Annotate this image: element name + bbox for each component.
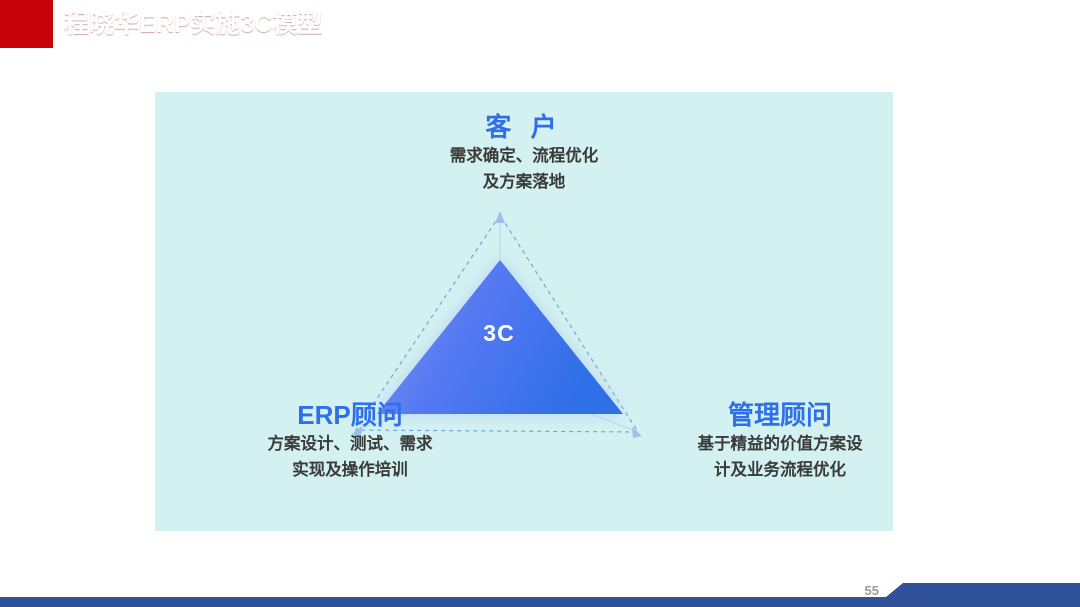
- node-management-consultant: 管理顾问 基于精益的价值方案设 计及业务流程优化: [625, 399, 935, 483]
- node-erp-consultant-desc-line-2: 实现及操作培训: [190, 457, 510, 483]
- node-management-consultant-desc-line-2: 计及业务流程优化: [625, 457, 935, 483]
- content-panel: 3C 客 户 需求确定、流程优化 及方案落地 ERP顾问 方案设计、测试、需求 …: [155, 92, 893, 531]
- node-erp-consultant: ERP顾问 方案设计、测试、需求 实现及操作培训: [190, 399, 510, 483]
- node-customer-desc-line-2: 及方案落地: [364, 169, 684, 195]
- header-accent-block: [0, 0, 53, 48]
- node-customer: 客 户 需求确定、流程优化 及方案落地: [364, 111, 684, 195]
- node-management-consultant-title: 管理顾问: [625, 399, 935, 431]
- node-erp-consultant-desc-line-1: 方案设计、测试、需求: [190, 431, 510, 457]
- diagram-stage: 3C 客 户 需求确定、流程优化 及方案落地 ERP顾问 方案设计、测试、需求 …: [155, 92, 893, 531]
- page-title: 程晓华ERP实施3C模型: [64, 5, 322, 43]
- page-number: 55: [855, 583, 879, 598]
- node-customer-desc-line-1: 需求确定、流程优化: [364, 143, 684, 169]
- node-management-consultant-desc-line-1: 基于精益的价值方案设: [625, 431, 935, 457]
- node-erp-consultant-title: ERP顾问: [190, 399, 510, 431]
- node-customer-title: 客 户: [364, 111, 684, 143]
- slide-header: 程晓华ERP实施3C模型: [0, 0, 1080, 48]
- triangle-center-label: 3C: [444, 320, 554, 347]
